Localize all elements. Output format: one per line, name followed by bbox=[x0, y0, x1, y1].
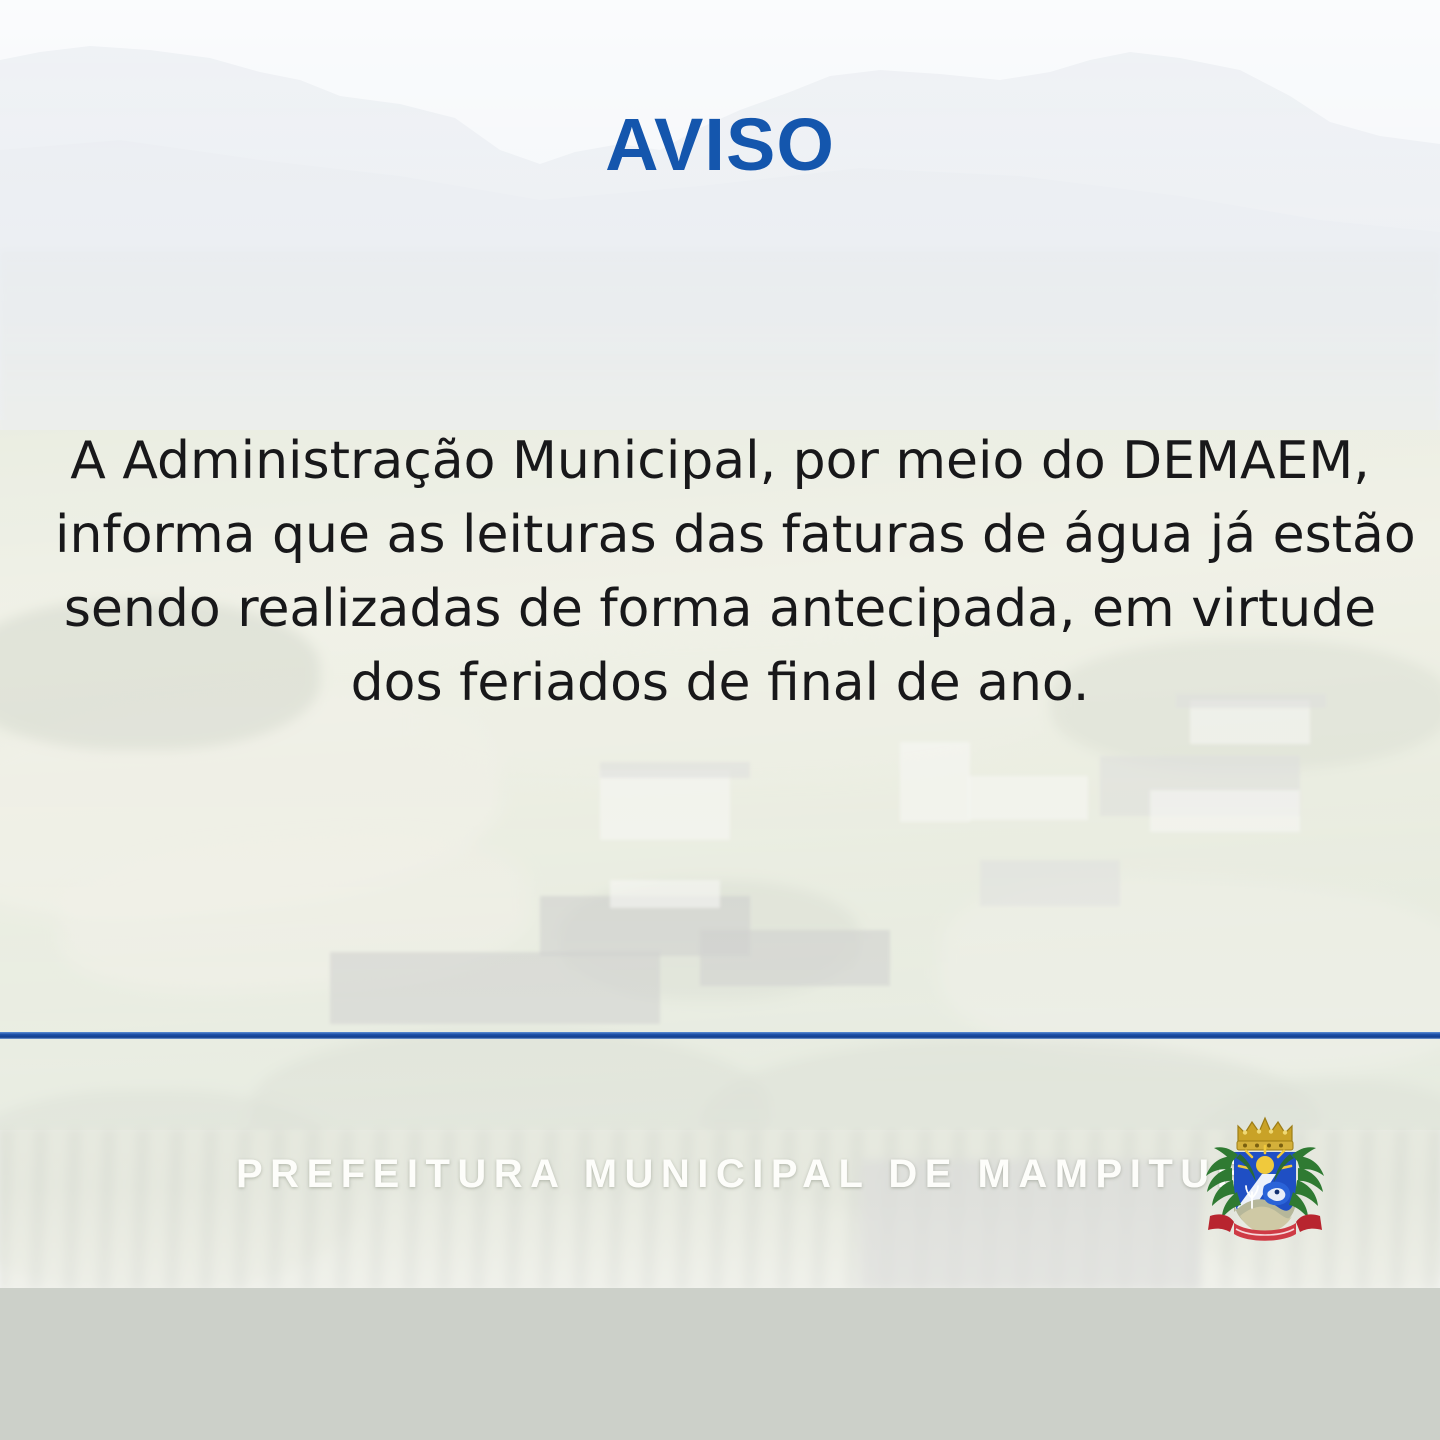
announcement-line: informa que as leituras das faturas de á… bbox=[55, 498, 1385, 572]
building bbox=[610, 880, 720, 908]
announcement-line: dos feriados de final de ano. bbox=[55, 646, 1385, 720]
footer-organization-name: PREFEITURA MUNICIPAL DE MAMPITUBA bbox=[236, 1152, 1289, 1197]
announcement-line: A Administração Municipal, por meio do D… bbox=[55, 424, 1385, 498]
blue-divider-line bbox=[0, 1032, 1440, 1039]
building-roof bbox=[700, 930, 890, 986]
page-title: AVISO bbox=[0, 108, 1440, 182]
announcement-poster: AVISO A Administração Municipal, por mei… bbox=[0, 0, 1440, 1440]
announcement-body: A Administração Municipal, por meio do D… bbox=[55, 424, 1385, 720]
building bbox=[600, 770, 730, 840]
building-roof bbox=[600, 762, 750, 778]
bottom-letterbox-band bbox=[0, 1288, 1440, 1440]
building-roof bbox=[330, 952, 660, 1024]
building bbox=[1150, 790, 1300, 832]
coat-of-arms-icon bbox=[1204, 1112, 1326, 1244]
building bbox=[968, 776, 1088, 820]
announcement-line: sendo realizadas de forma antecipada, em… bbox=[55, 572, 1385, 646]
building-roof bbox=[980, 860, 1120, 906]
building bbox=[900, 742, 970, 822]
